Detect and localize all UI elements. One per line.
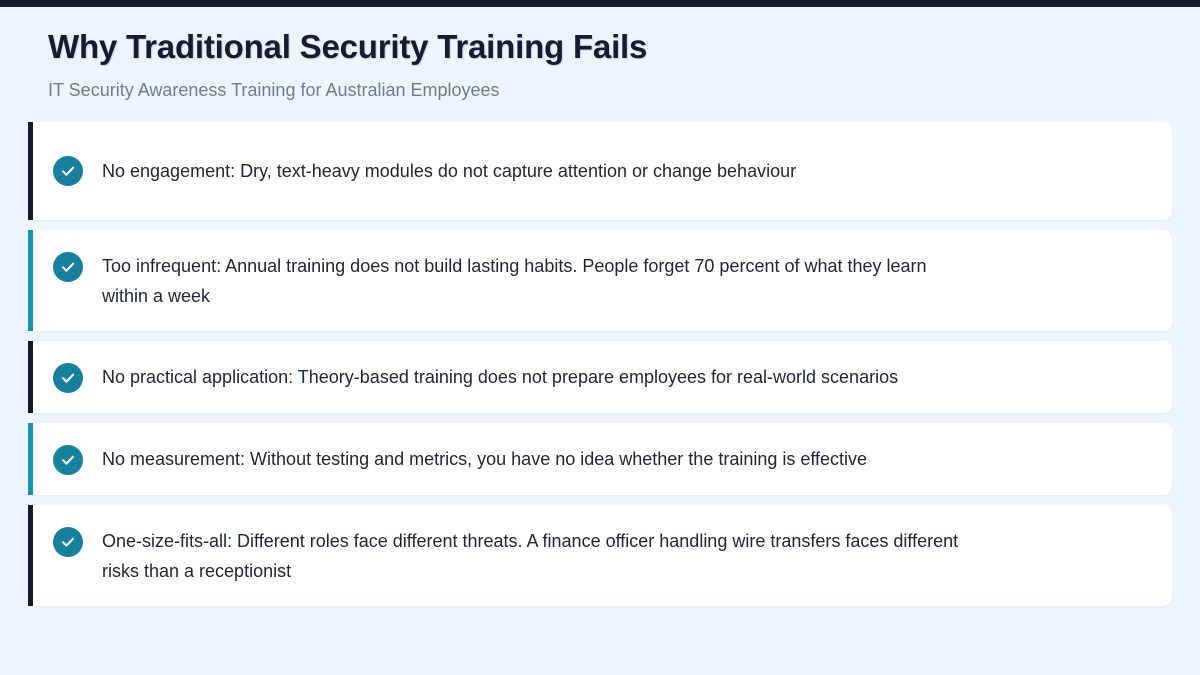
top-accent-bar [0, 0, 1200, 7]
card-accent-bar [28, 423, 33, 495]
list-item: Too infrequent: Annual training does not… [28, 230, 1172, 331]
list-item-text: No measurement: Without testing and metr… [102, 443, 867, 474]
list-item: One-size-fits-all: Different roles face … [28, 505, 1172, 606]
points-list: No engagement: Dry, text-heavy modules d… [28, 122, 1172, 616]
check-circle-icon [53, 445, 83, 475]
list-item-text: No engagement: Dry, text-heavy modules d… [102, 155, 796, 186]
list-item-text: No practical application: Theory-based t… [102, 361, 898, 392]
list-item: No measurement: Without testing and metr… [28, 423, 1172, 495]
card-accent-bar [28, 341, 33, 413]
check-circle-icon [53, 252, 83, 282]
card-accent-bar [28, 505, 33, 606]
page-title: Why Traditional Security Training Fails [48, 29, 1200, 66]
check-circle-icon [53, 363, 83, 393]
list-item-text: One-size-fits-all: Different roles face … [102, 525, 962, 586]
card-accent-bar [28, 122, 33, 220]
card-accent-bar [28, 230, 33, 331]
list-item-text: Too infrequent: Annual training does not… [102, 250, 962, 311]
list-item: No practical application: Theory-based t… [28, 341, 1172, 413]
list-item: No engagement: Dry, text-heavy modules d… [28, 122, 1172, 220]
page-subtitle: IT Security Awareness Training for Austr… [48, 80, 1200, 102]
slide-header: Why Traditional Security Training Fails … [0, 7, 1200, 102]
check-circle-icon [53, 156, 83, 186]
slide-root: Why Traditional Security Training Fails … [0, 0, 1200, 675]
check-circle-icon [53, 527, 83, 557]
